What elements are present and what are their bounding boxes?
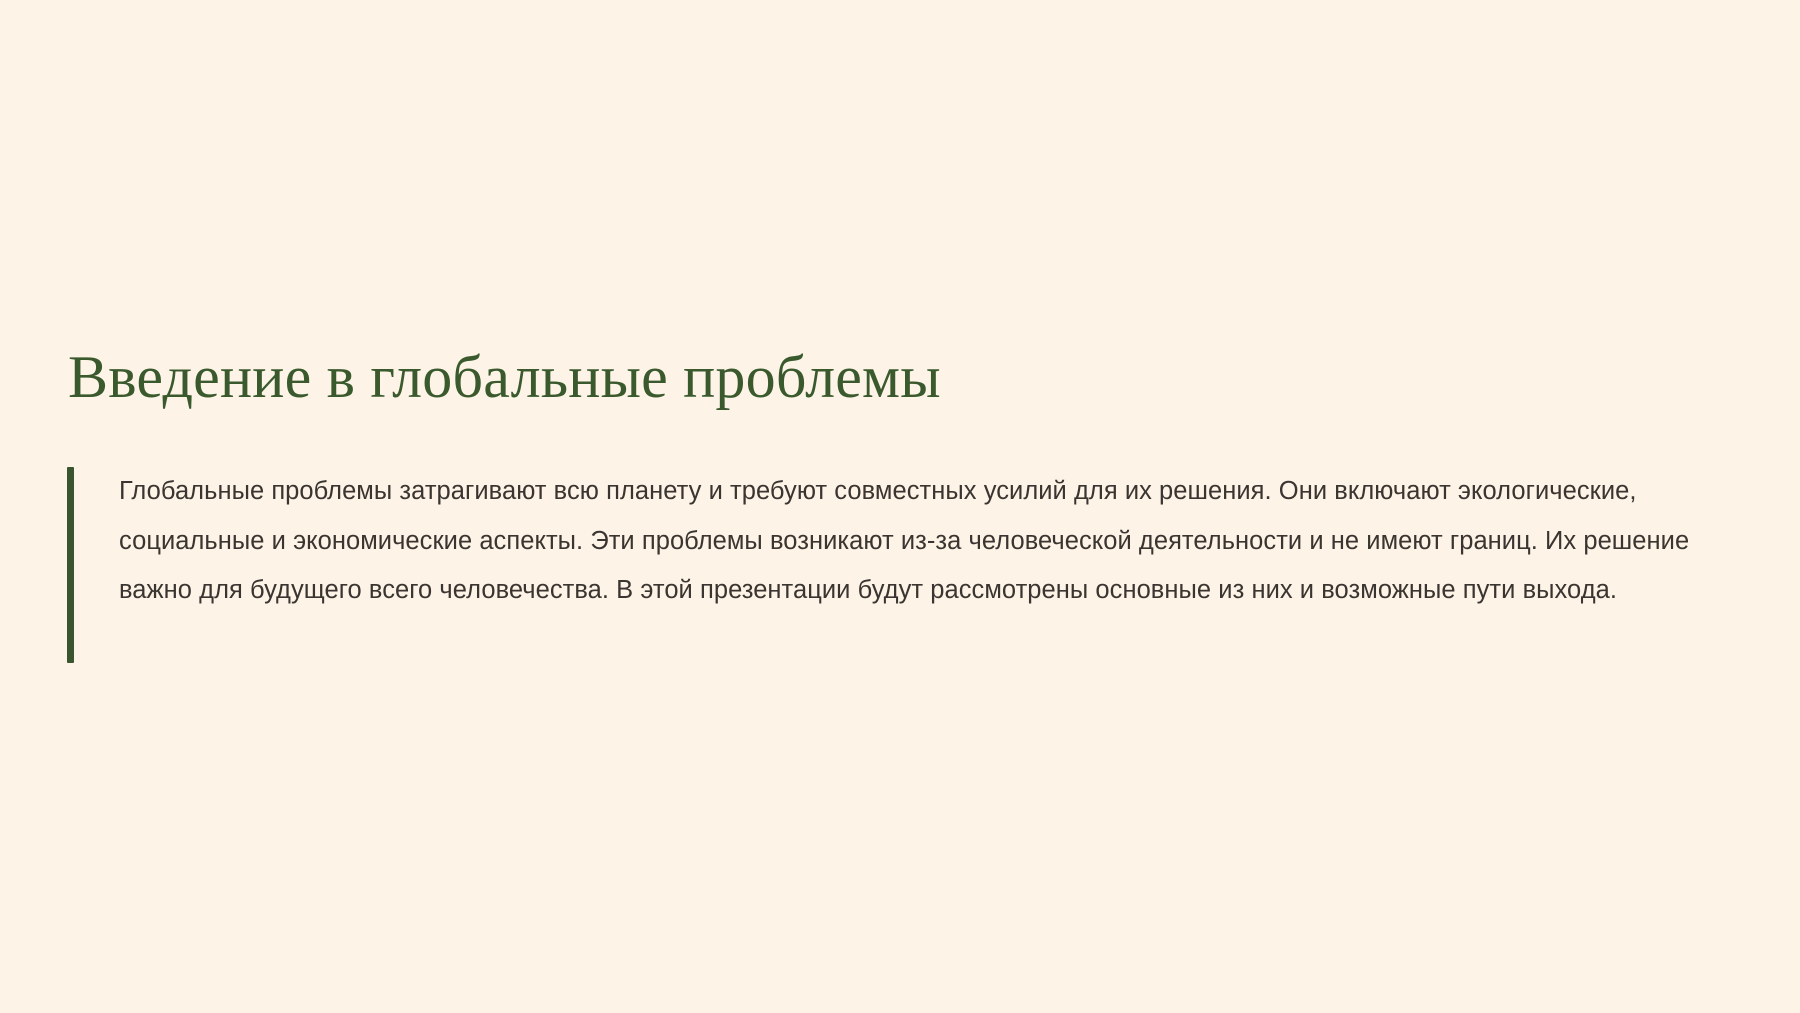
body-paragraph: Глобальные проблемы затрагивают всю план…: [119, 467, 1737, 616]
body-text-container: Глобальные проблемы затрагивают всю план…: [74, 467, 1737, 663]
body-content-block: Глобальные проблемы затрагивают всю план…: [67, 467, 1737, 663]
page-title: Введение в глобальные проблемы: [68, 341, 941, 413]
accent-bar: [67, 467, 74, 663]
presentation-slide: Введение в глобальные проблемы Глобальны…: [0, 0, 1800, 1013]
